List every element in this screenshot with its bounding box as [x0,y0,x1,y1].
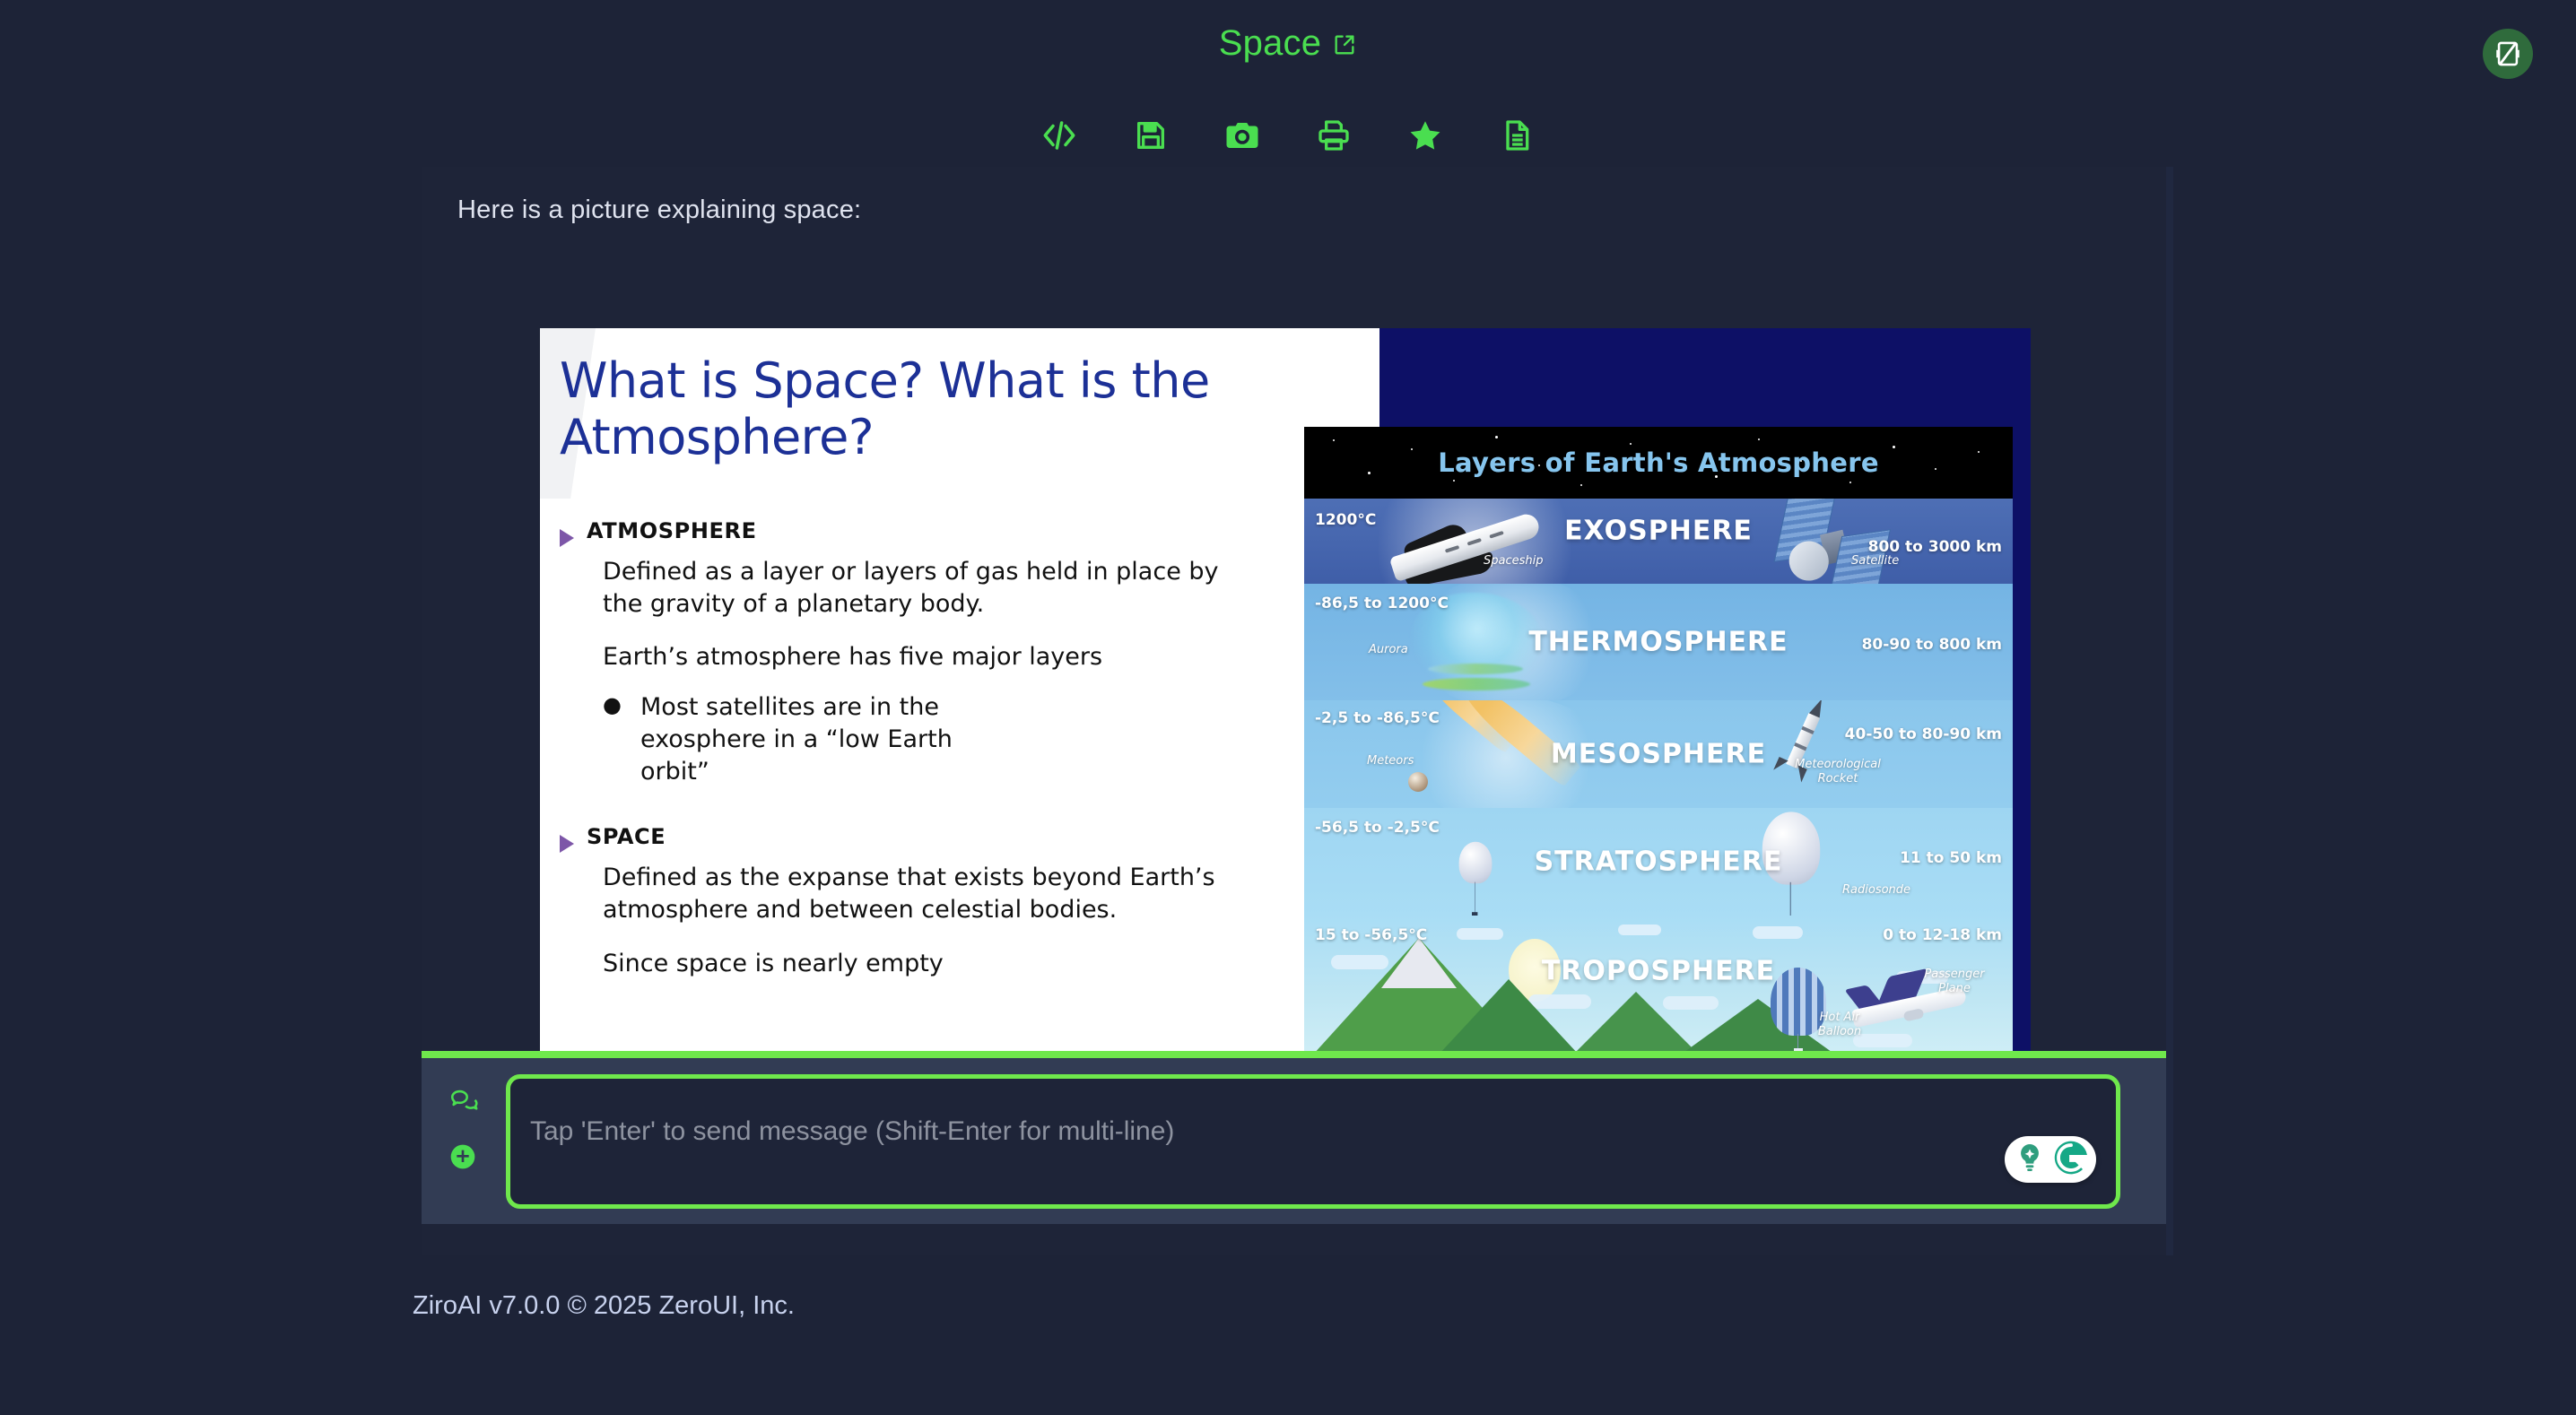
bullet-heading-label: ATMOSPHERE [587,518,757,543]
top-bar: Space [0,0,2576,108]
app-root: Space [0,0,2576,1415]
star-icon[interactable] [1405,115,1446,156]
layer-caption: Aurora [1369,643,1408,657]
footer-text: ZiroAI v7.0.0 © 2025 ZeroUI, Inc. [413,1291,795,1321]
assistant-badge[interactable] [2005,1136,2096,1183]
panel-edge [2166,167,2173,1255]
layer-caption: Passenger Plane [1923,968,1986,995]
add-circle-icon[interactable] [448,1142,492,1171]
layer-caption: Meteorological Rocket [1788,758,1887,786]
assistant-message-text: Here is a picture explaining space: [457,195,861,225]
document-toolbar [0,115,2576,156]
triangle-bullet-icon [560,835,574,853]
bullet-heading-label: SPACE [587,824,666,849]
layer-altitude: 0 to 12-18 km [1883,926,2002,944]
bullet-heading-space: SPACE [560,824,1349,853]
message-input-placeholder: Tap 'Enter' to send message (Shift-Enter… [530,1116,1174,1147]
layer-caption: Spaceship [1484,554,1544,569]
atmosphere-infographic: Layers of Earth's Atmosphere 1200°C 800 … [1304,427,2013,1055]
message-input[interactable]: Tap 'Enter' to send message (Shift-Enter… [506,1074,2120,1209]
input-left-icons [448,1085,492,1198]
layer-temperature: -56,5 to -2,5°C [1315,819,1440,837]
layer-name: STRATOSPHERE [1304,846,2013,878]
layer-caption: Radiosonde [1842,883,1910,898]
infographic-title: Layers of Earth's Atmosphere [1438,447,1879,478]
message-input-bar: Tap 'Enter' to send message (Shift-Enter… [422,1058,2166,1224]
layer-temperature: 15 to -56,5°C [1315,926,1427,944]
layer-caption: Satellite [1851,554,1899,569]
layer-stratosphere: -56,5 to -2,5°C 11 to 50 km STRATOSPHERE… [1304,808,2013,916]
layer-temperature: -2,5 to -86,5°C [1315,709,1440,727]
slide-image[interactable]: What is Space? What is the Atmosphere? A… [540,328,2031,1055]
document-title-text: Space [1219,23,1321,63]
bullet-paragraph: Earth’s atmosphere has five major layers [603,641,1231,673]
layer-name: EXOSPHERE [1304,516,2013,547]
layer-exosphere: 1200°C 800 to 3000 km EXOSPHERE Spaceshi… [1304,499,2013,584]
layer-caption: Hot Air Balloon [1805,1011,1875,1038]
lightbulb-idea-icon[interactable] [2012,1140,2048,1180]
print-icon[interactable] [1313,115,1354,156]
bullet-heading-atmosphere: ATMOSPHERE [560,518,1349,547]
infographic-header: Layers of Earth's Atmosphere [1304,427,2013,499]
layer-mesosphere: -2,5 to -86,5°C 40-50 to 80-90 km MESOSP… [1304,700,2013,808]
sub-bullet-text: Most satellites are in the exosphere in … [640,691,1017,789]
sub-bullet-item: ● Most satellites are in the exosphere i… [603,691,1349,789]
code-icon[interactable] [1039,115,1080,156]
ziro-logo-icon[interactable] [2483,29,2533,79]
document-icon[interactable] [1496,115,1537,156]
grammarly-icon[interactable] [2051,1138,2091,1182]
bullet-paragraph: Defined as a layer or layers of gas held… [603,556,1231,620]
camera-icon[interactable] [1222,115,1263,156]
layer-troposphere: 15 to -56,5°C 0 to 12-18 km TROPOSPHERE … [1304,916,2013,1055]
mountain-illustration [1573,992,1699,1055]
slide-title: What is Space? What is the Atmosphere? [560,353,1349,465]
external-link-icon[interactable] [1332,26,1357,66]
bullet-paragraph: Since space is nearly empty [603,948,1231,980]
chat-bubbles-icon[interactable] [448,1085,492,1116]
save-icon[interactable] [1130,115,1171,156]
layer-name: TROPOSPHERE [1304,956,2013,987]
slide-bullets: ATMOSPHERE Defined as a layer or layers … [560,515,1349,979]
layer-thermosphere: -86,5 to 1200°C 80-90 to 800 km THERMOSP… [1304,584,2013,700]
dot-bullet-icon: ● [603,691,640,789]
triangle-bullet-icon [560,529,574,547]
layer-temperature: -86,5 to 1200°C [1315,595,1449,612]
bullet-paragraph: Defined as the expanse that exists beyon… [603,862,1231,925]
mountain-illustration [1439,979,1579,1055]
layer-name: THERMOSPHERE [1304,627,2013,658]
layer-caption: Meteors [1367,754,1414,768]
document-title[interactable]: Space [0,23,2576,66]
